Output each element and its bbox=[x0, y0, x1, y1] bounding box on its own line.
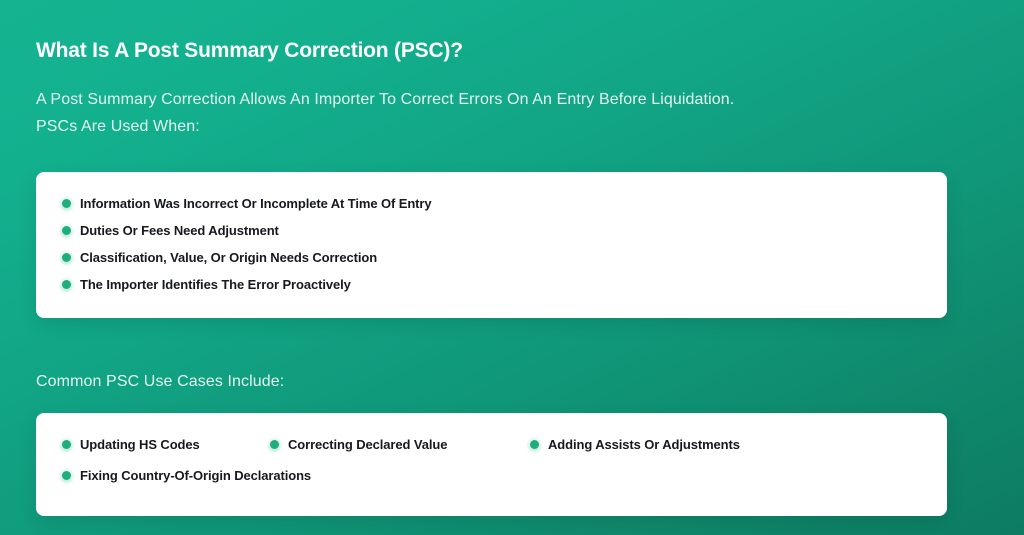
bullet-dot-icon bbox=[530, 440, 539, 449]
bullet-dot-icon bbox=[62, 199, 71, 208]
conditions-list: Information Was Incorrect Or Incomplete … bbox=[62, 190, 921, 298]
list-item: Duties Or Fees Need Adjustment bbox=[62, 217, 921, 244]
bullet-dot-icon bbox=[62, 226, 71, 235]
list-item-label: Adding Assists Or Adjustments bbox=[548, 435, 740, 454]
usecases-list: Updating HS Codes Correcting Declared Va… bbox=[62, 431, 921, 489]
bullet-dot-icon bbox=[62, 253, 71, 262]
list-item-label: Classification, Value, Or Origin Needs C… bbox=[80, 248, 377, 267]
intro-line-1: A Post Summary Correction Allows An Impo… bbox=[36, 91, 734, 108]
bullet-dot-icon bbox=[270, 440, 279, 449]
usecases-section-label: Common PSC Use Cases Include: bbox=[36, 373, 988, 391]
list-item-label: Information Was Incorrect Or Incomplete … bbox=[80, 194, 431, 213]
list-item: Correcting Declared Value bbox=[270, 431, 530, 458]
list-item: Classification, Value, Or Origin Needs C… bbox=[62, 244, 921, 271]
list-item-label: The Importer Identifies The Error Proact… bbox=[80, 275, 351, 294]
list-item: Fixing Country-Of-Origin Declarations bbox=[62, 462, 270, 489]
conditions-card: Information Was Incorrect Or Incomplete … bbox=[36, 172, 947, 318]
list-item: Updating HS Codes bbox=[62, 431, 270, 458]
list-item-label: Duties Or Fees Need Adjustment bbox=[80, 221, 279, 240]
bullet-dot-icon bbox=[62, 280, 71, 289]
list-item-label: Updating HS Codes bbox=[80, 435, 200, 454]
list-item-label: Correcting Declared Value bbox=[288, 435, 447, 454]
bullet-dot-icon bbox=[62, 440, 71, 449]
page-title: What Is A Post Summary Correction (PSC)? bbox=[36, 38, 988, 64]
slide-root: What Is A Post Summary Correction (PSC)?… bbox=[0, 0, 1024, 535]
bullet-dot-icon bbox=[62, 471, 71, 480]
list-item: Information Was Incorrect Or Incomplete … bbox=[62, 190, 921, 217]
list-item: Adding Assists Or Adjustments bbox=[530, 431, 921, 458]
intro-paragraph: A Post Summary Correction Allows An Impo… bbox=[36, 86, 936, 140]
list-item-label: Fixing Country-Of-Origin Declarations bbox=[80, 466, 311, 485]
intro-line-2: PSCs Are Used When: bbox=[36, 118, 200, 135]
list-item: The Importer Identifies The Error Proact… bbox=[62, 271, 921, 298]
usecases-card: Updating HS Codes Correcting Declared Va… bbox=[36, 413, 947, 516]
